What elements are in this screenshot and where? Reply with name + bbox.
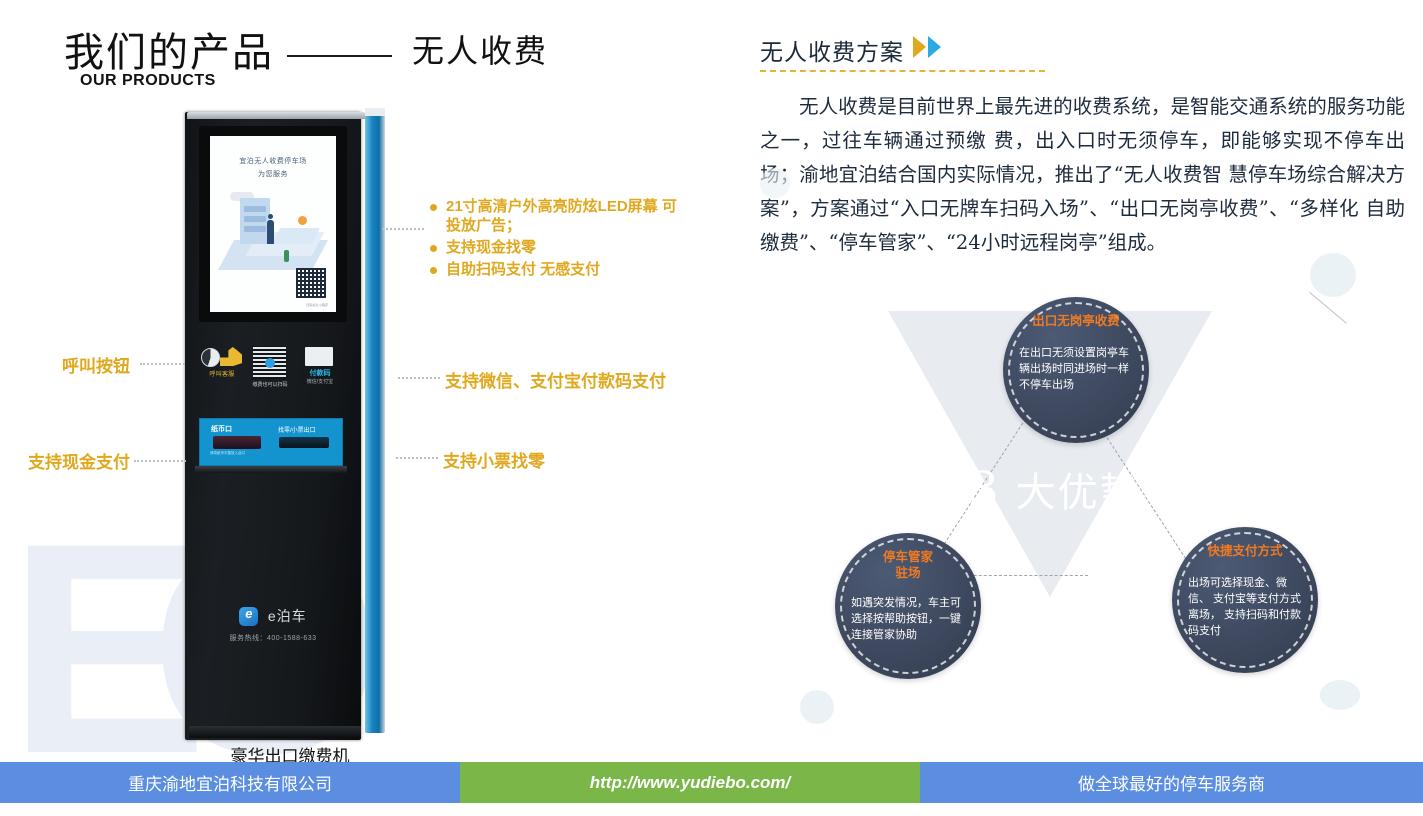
list-item: 支持现金找零 <box>428 238 678 257</box>
footer-bar: 重庆渝地宜泊科技有限公司 http://www.yudiebo.com/ 做全球… <box>0 762 1423 803</box>
advantage-title-line1: 停车管家 <box>845 549 971 565</box>
kiosk-mid-panel: 呼叫客服 缴费也可以扫码 付款码 微信/支付宝 <box>195 344 351 396</box>
footer-company: 重庆渝地宜泊科技有限公司 <box>0 762 460 803</box>
kiosk-base <box>189 726 361 738</box>
leader-line-call-button <box>140 363 185 365</box>
callout-code-payment: 支持微信、支付宝付款码支付 <box>445 367 666 392</box>
callout-receipt-change: 支持小票找零 <box>443 447 545 472</box>
screen-illustration <box>222 188 324 280</box>
advantage-body: 如遇突发情况，车主可选择按帮助按钮，一键连接管家协助 <box>851 595 967 643</box>
kiosk-side-cap <box>365 108 385 116</box>
list-item: 21寸高清户外高亮防炫LED屏幕 可投放广告； <box>428 197 678 235</box>
leader-line-cash-payment <box>134 460 186 462</box>
kiosk-qr-code-icon <box>253 346 286 379</box>
kiosk-screen: 宜泊无人收费停车场 为您服务 <box>210 136 336 312</box>
screen-headline-line2: 为您服务 <box>210 169 336 179</box>
screen-headline-line1: 宜泊无人收费停车场 <box>210 156 336 166</box>
call-service-label: 呼叫客服 <box>197 369 247 378</box>
change-receipt-slot <box>279 437 329 448</box>
footer-slogan: 做全球最好的停车服务商 <box>920 762 1423 803</box>
advantage-bubble-bottom-right[interactable]: 快捷支付方式 出场可选择现金、微信、 支付宝等支付方式离场， 支持扫码和付款码支… <box>1172 527 1318 673</box>
kiosk-screen-bezel: 宜泊无人收费停车场 为您服务 <box>199 126 347 322</box>
kiosk-brand-block: e泊车 服务热线：400-1588-633 <box>185 606 361 643</box>
section-divider-dashed <box>760 70 1045 72</box>
callout-cash-payment: 支持现金支付 <box>0 448 130 473</box>
advantage-title: 出口无岗亭收费 <box>1013 313 1139 329</box>
paycode-scanner-window <box>305 347 333 366</box>
title-divider-rule <box>287 55 392 57</box>
kiosk-qr-label: 缴费也可以扫码 <box>245 381 295 388</box>
advantages-diagram: 3 大优势 出口无岗亭收费 在出口无须设置岗亭车辆出场时同进场时一样不停车出场 … <box>800 275 1400 705</box>
callout-call-button: 呼叫按钮 <box>0 352 130 377</box>
list-item: 自助扫码支付 无感支付 <box>428 260 678 279</box>
advantage-title: 停车管家 驻场 <box>845 549 971 581</box>
advantage-count-label: 大优势 <box>1016 470 1142 516</box>
chevron-right-icon <box>913 36 926 58</box>
page-title-english: OUR PRODUCTS <box>80 72 216 90</box>
advantage-bubble-top[interactable]: 出口无岗亭收费 在出口无须设置岗亭车辆出场时同进场时一样不停车出场 <box>1003 297 1149 443</box>
banknote-slot <box>213 436 261 449</box>
paycode-sublabel: 微信/支付宝 <box>299 378 341 385</box>
illustration-person-small <box>284 250 289 262</box>
brand-name: e泊车 <box>268 606 307 626</box>
kiosk-shelf <box>195 466 347 473</box>
diagram-center-label: 3 大优势 <box>930 460 1180 518</box>
leader-line-code-payment <box>398 377 440 379</box>
advantage-title-line2: 驻场 <box>845 565 971 581</box>
e-parking-logo-icon <box>239 607 258 626</box>
call-service-icon <box>201 348 220 367</box>
screen-qr-caption: 扫码关注 小程序 <box>306 303 328 307</box>
advantage-body: 出场可选择现金、微信、 支付宝等支付方式离场， 支持扫码和付款码支付 <box>1188 575 1304 639</box>
illustration-phone <box>272 228 321 244</box>
kiosk-body: 宜泊无人收费停车场 为您服务 <box>185 112 361 740</box>
illustration-kiosk-panel <box>240 198 270 244</box>
kiosk-cash-panel: 纸币口 请将纸币平整放入此口 找零/小票出口 <box>199 418 343 466</box>
kiosk-side-panel <box>365 108 385 733</box>
service-hotline: 服务热线：400-1588-633 <box>185 633 361 643</box>
decorative-blob <box>760 168 790 198</box>
illustration-accent-dot <box>298 216 307 225</box>
advantage-body: 在出口无须设置岗亭车辆出场时同进场时一样不停车出场 <box>1019 345 1135 393</box>
advantage-count: 3 <box>968 462 1001 518</box>
section-title: 无人收费方案 <box>760 33 904 67</box>
change-receipt-slot-label: 找零/小票出口 <box>278 425 316 434</box>
section-paragraph: 无人收费是目前世界上最先进的收费系统，是智能交通系统的服务功能之一，过往车辆通过… <box>760 90 1405 260</box>
banknote-slot-label: 纸币口 <box>211 424 232 434</box>
feature-bullet-list: 21寸高清户外高亮防炫LED屏幕 可投放广告； 支持现金找零 自助扫码支付 无感… <box>428 197 678 282</box>
paycode-label: 付款码 <box>299 368 341 378</box>
page-title: 我们的产品 <box>64 20 274 78</box>
banknote-slot-sublabel: 请将纸币平整放入此口 <box>210 451 245 456</box>
advantage-title: 快捷支付方式 <box>1182 543 1308 559</box>
advantage-bubble-bottom-left[interactable]: 停车管家 驻场 如遇突发情况，车主可选择按帮助按钮，一键连接管家协助 <box>835 533 981 679</box>
kiosk-illustration: 宜泊无人收费停车场 为您服务 <box>185 108 385 738</box>
illustration-person <box>267 220 274 244</box>
chevron-right-icon <box>928 36 941 58</box>
hand-pointer-icon <box>220 347 242 366</box>
slide-page: E O 我们的产品 无人收费 OUR PRODUCTS 宜泊无人收费停车场 为您… <box>0 0 1423 803</box>
leader-line-bullets <box>382 228 424 230</box>
page-subtitle: 无人收费 <box>412 26 548 72</box>
screen-qr-code-icon <box>296 268 326 298</box>
leader-line-receipt-change <box>396 457 438 459</box>
footer-url[interactable]: http://www.yudiebo.com/ <box>460 762 920 803</box>
kiosk-top-edge <box>187 112 365 119</box>
